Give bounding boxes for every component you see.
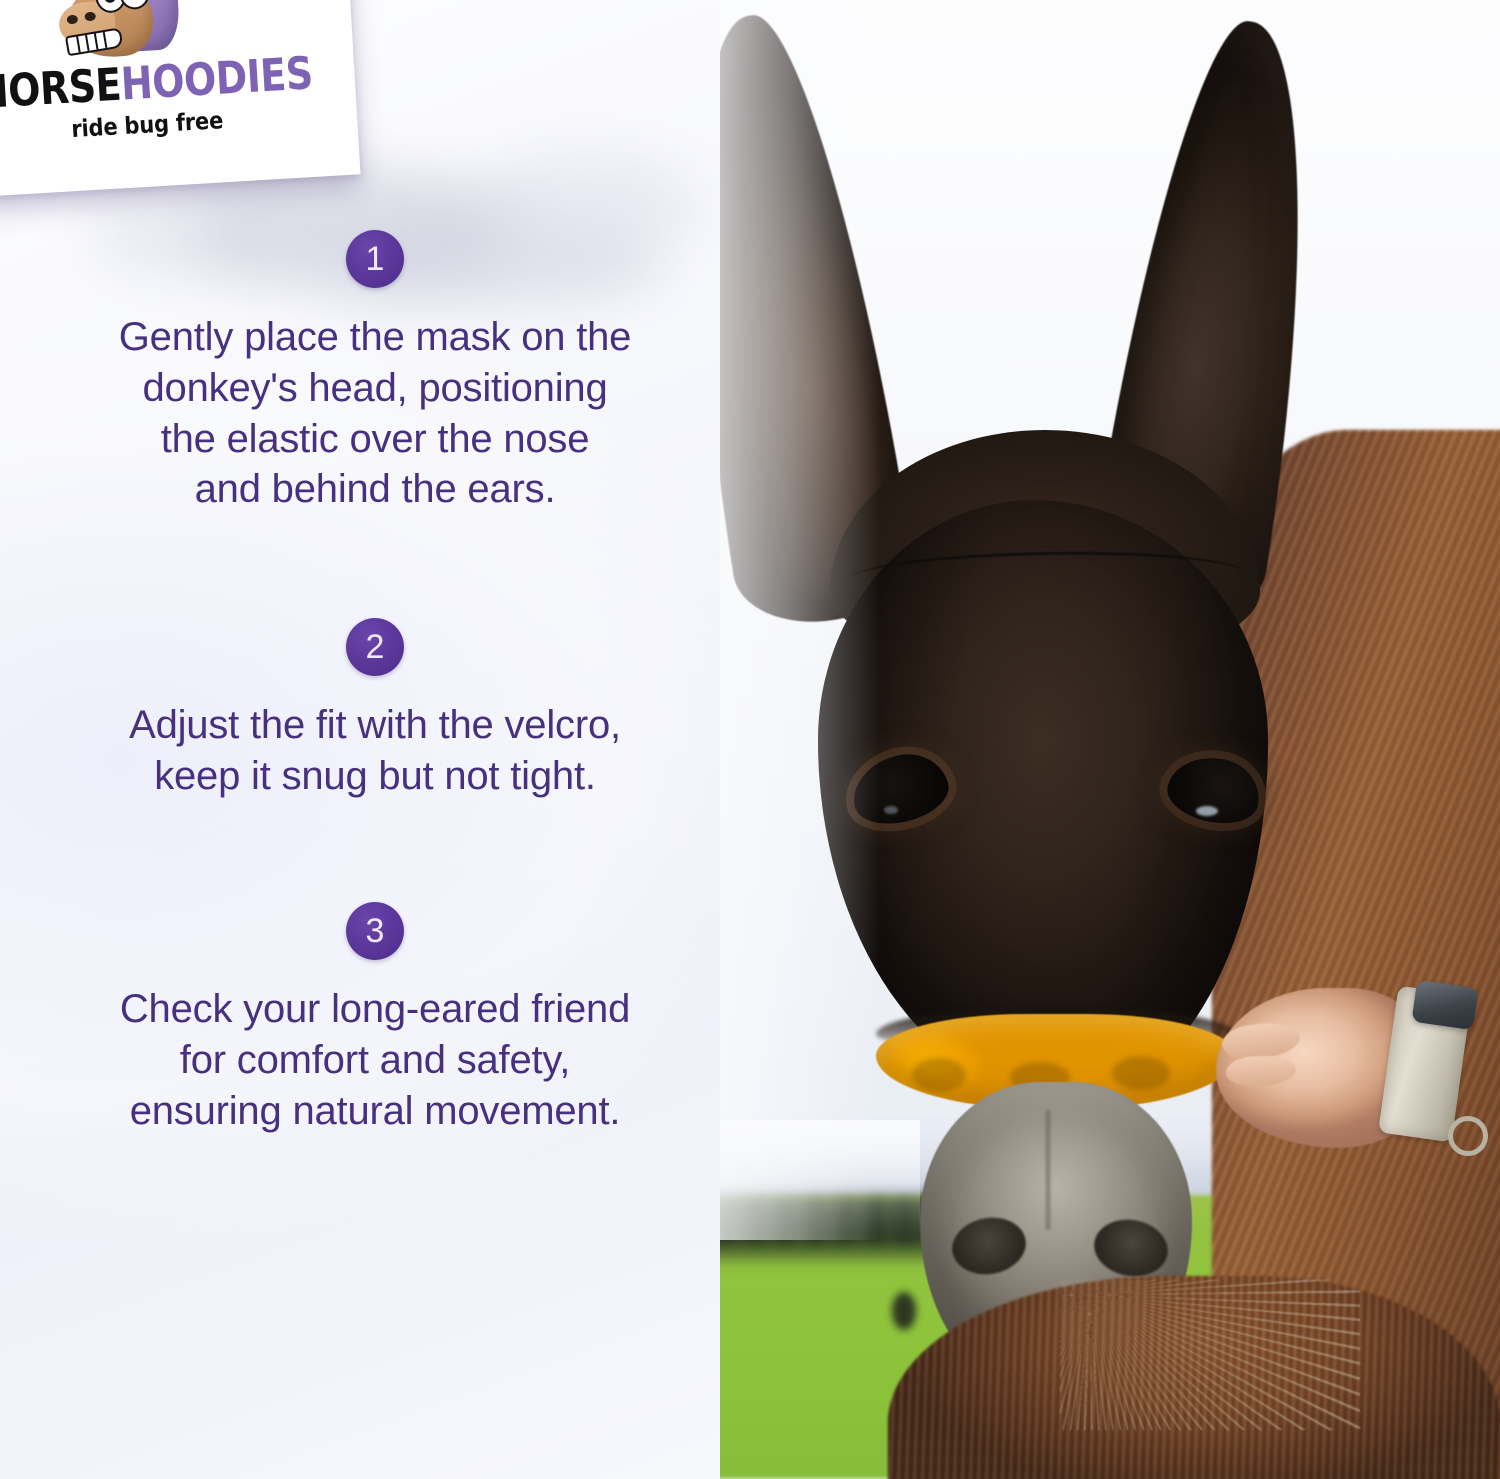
- eye-glint: [884, 806, 898, 814]
- trim-fold: [912, 1058, 966, 1092]
- trim-fold: [1112, 1056, 1170, 1090]
- muzzle-crease: [1046, 1110, 1050, 1230]
- step-item-1: 1 Gently place the mask on the donkey's …: [30, 230, 720, 515]
- step-item-2: 2 Adjust the fit with the velcro, keep i…: [30, 618, 720, 802]
- eye-glint: [1196, 806, 1218, 816]
- step-text-2: Adjust the fit with the velcro, keep it …: [30, 700, 720, 802]
- step-number-badge-1: 1: [346, 230, 404, 288]
- instruction-steps: 1 Gently place the mask on the donkey's …: [30, 0, 720, 1479]
- step-item-3: 3 Check your long-eared friend for comfo…: [30, 902, 720, 1136]
- donkey-whiskers: [1060, 1280, 1360, 1430]
- step-number-badge-3: 3: [346, 902, 404, 960]
- watch-face: [1411, 980, 1478, 1030]
- step-text-1: Gently place the mask on the donkey's he…: [30, 312, 720, 515]
- step-number-badge-2: 2: [346, 618, 404, 676]
- promo-image-canvas: HORSEHOODIES ride bug free 1 Gently plac…: [0, 0, 1500, 1479]
- step-text-3: Check your long-eared friend for comfort…: [30, 984, 720, 1136]
